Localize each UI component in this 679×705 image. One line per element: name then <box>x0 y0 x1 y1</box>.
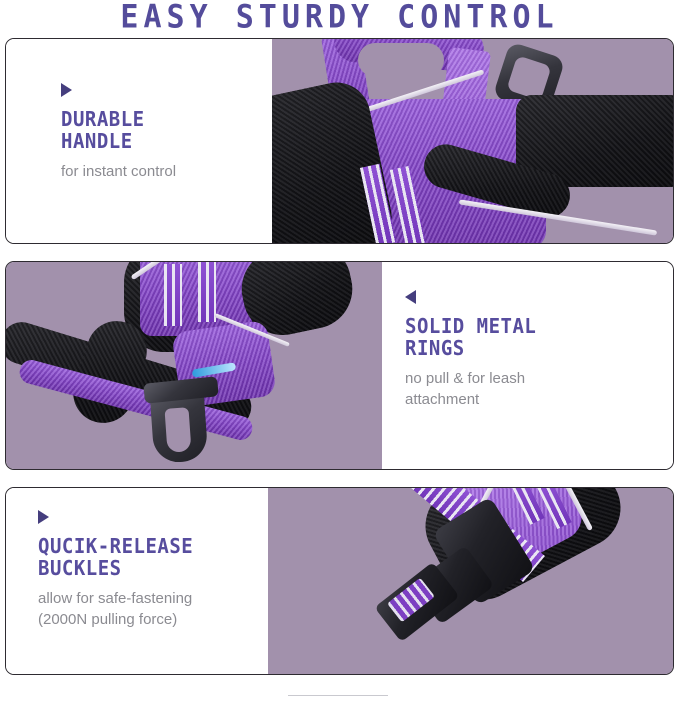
feature-panel-solid-metal-rings: SOLID METAL RINGS no pull & for leash at… <box>5 261 674 470</box>
feature-headline: SOLID METAL RINGS <box>405 316 673 361</box>
harness-handle-inner-shadow <box>358 43 444 77</box>
feature-panel-durable-handle: DURABLE HANDLE for instant control <box>5 38 674 244</box>
right-triangle-marker <box>61 83 72 97</box>
right-triangle-marker <box>38 510 49 524</box>
left-triangle-marker <box>405 290 416 304</box>
feature-subline: no pull & for leash attachment <box>405 368 673 412</box>
feature-text-block: SOLID METAL RINGS no pull & for leash at… <box>382 262 673 469</box>
product-photo-durable-handle <box>272 39 673 243</box>
feature-headline: DURABLE HANDLE <box>61 109 272 154</box>
bottom-divider-rule <box>288 695 388 696</box>
product-photo-metal-rings <box>6 262 382 469</box>
feature-panel-quick-release-buckles: QUCIK-RELEASE BUCKLES allow for safe-fas… <box>5 487 674 675</box>
feature-text-block: DURABLE HANDLE for instant control <box>6 39 272 243</box>
page-title: EASY STURDY CONTROL <box>120 2 558 34</box>
feature-text-block: QUCIK-RELEASE BUCKLES allow for safe-fas… <box>6 488 268 674</box>
product-photo-quick-release-buckle <box>268 488 673 674</box>
reflective-strip <box>198 262 216 322</box>
feature-subline: allow for safe-fastening (2000N pulling … <box>38 588 268 632</box>
metal-leash-ring-hole <box>164 407 191 453</box>
header-banner: EASY STURDY CONTROL <box>0 0 679 36</box>
feature-subline: for instant control <box>61 161 272 183</box>
feature-headline: QUCIK-RELEASE BUCKLES <box>38 536 268 581</box>
reflective-strip <box>164 264 182 326</box>
infographic-page: { "title": "EASY STURDY CONTROL", "color… <box>0 0 679 705</box>
